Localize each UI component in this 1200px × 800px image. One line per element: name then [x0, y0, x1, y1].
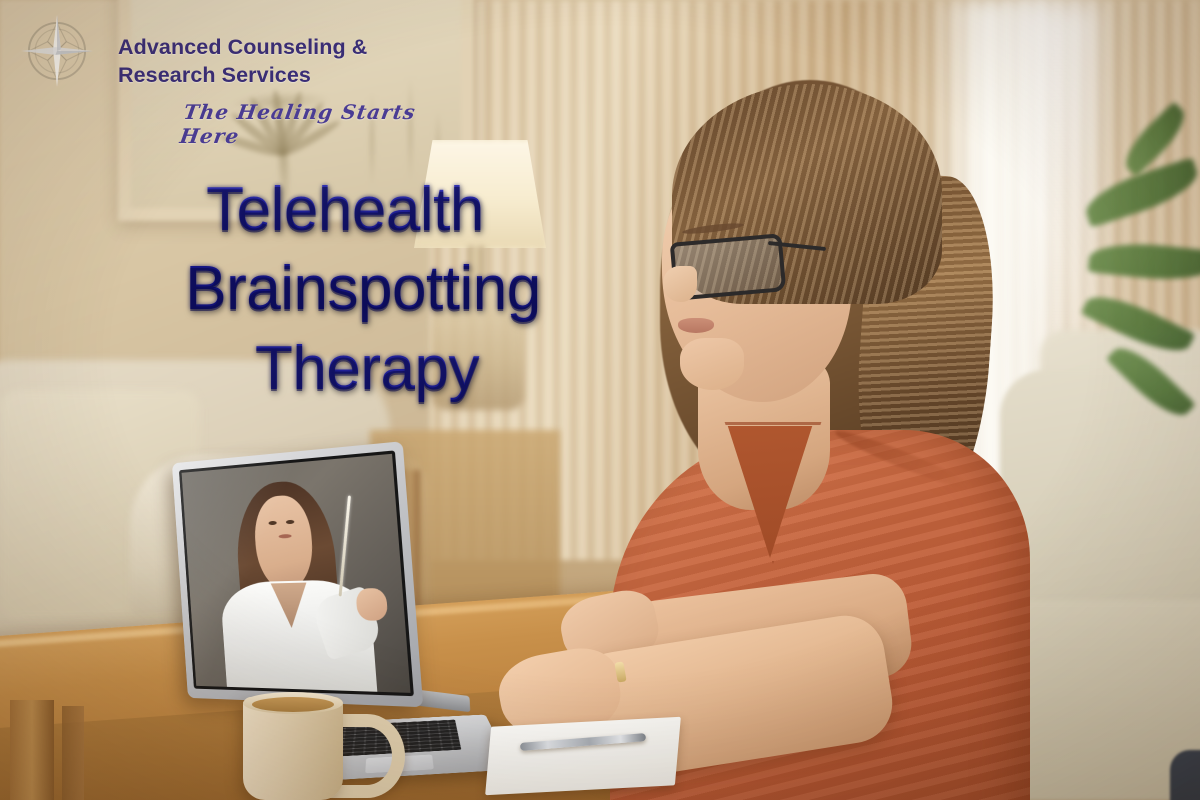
table-leg [10, 700, 54, 800]
chin [680, 338, 744, 390]
headline-line-2: Brainspotting [60, 249, 630, 328]
jeans [1170, 750, 1200, 800]
telehealth-promo-banner: Advanced Counseling & Research Services … [0, 0, 1200, 800]
headline-line-1: Telehealth [60, 170, 630, 249]
laptop-screen [179, 450, 414, 696]
mug-contents [252, 697, 334, 712]
table-leg-secondary [62, 706, 84, 800]
brand-logo-block: Advanced Counseling & Research Services … [0, 0, 470, 140]
brand-name: Advanced Counseling & Research Services [118, 33, 448, 90]
nose [663, 266, 697, 302]
brand-name-line1: Advanced Counseling & [118, 33, 448, 61]
brand-name-line2: Research Services [118, 61, 448, 89]
compass-rose-icon [18, 12, 96, 90]
brand-tagline: The Healing Starts Here [178, 100, 476, 148]
headline-line-3: Therapy [60, 329, 630, 408]
notepad [485, 717, 681, 795]
lips [678, 318, 714, 333]
page-title: Telehealth Brainspotting Therapy [60, 170, 630, 408]
screen-glare [179, 450, 414, 696]
laptop-lid [172, 441, 423, 707]
